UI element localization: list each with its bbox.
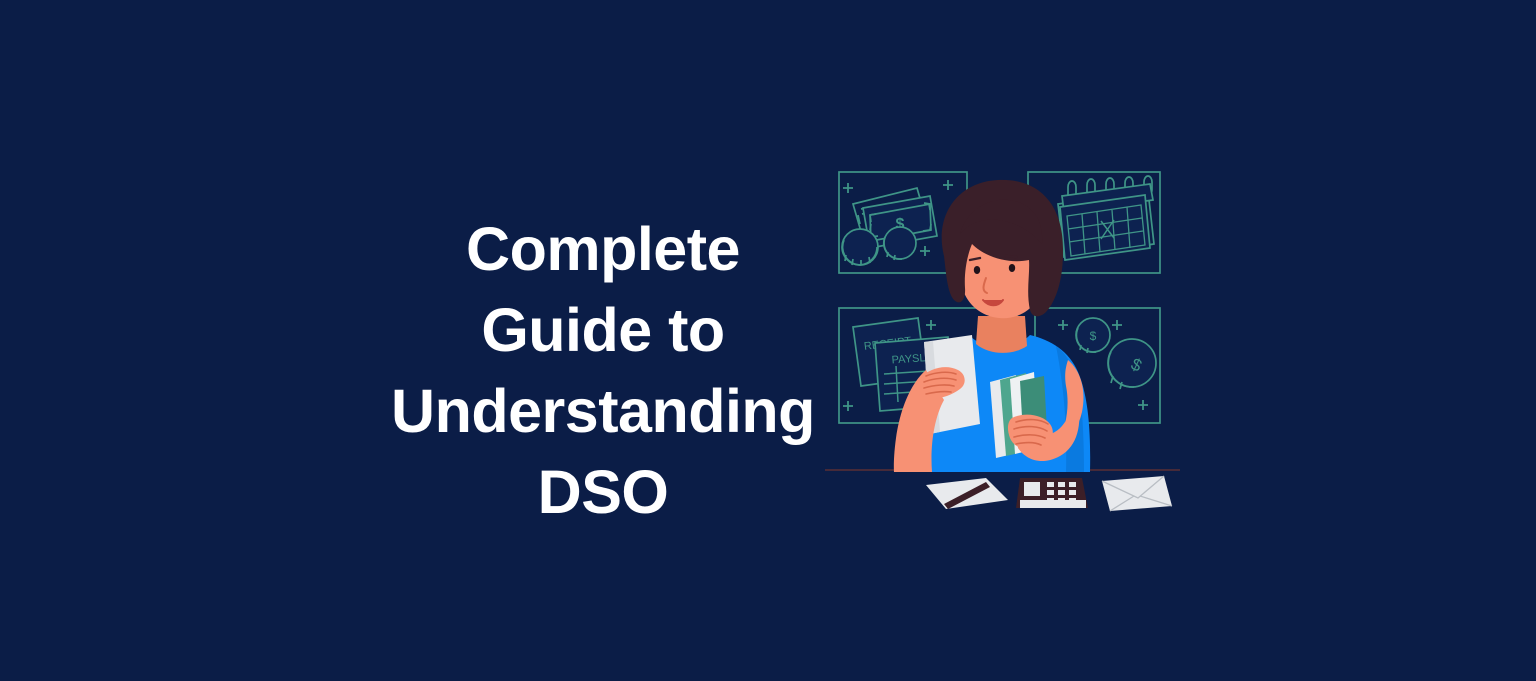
- calculator-display: [1024, 482, 1040, 496]
- calculator-item: [1016, 478, 1088, 508]
- hero-illustration: $: [820, 160, 1190, 520]
- coin-icon-right: [884, 227, 916, 260]
- calendar-icon: [1058, 176, 1154, 260]
- page-title: Complete Guide to Understanding DSO: [330, 209, 876, 533]
- hero-banner: Complete Guide to Understanding DSO: [0, 0, 1536, 681]
- coin-icon-left: [842, 229, 878, 265]
- envelope-icon: [1102, 476, 1172, 511]
- coins-icon: $ $: [1076, 318, 1156, 389]
- svg-text:$: $: [1090, 329, 1097, 343]
- neck: [976, 316, 1027, 353]
- paper-and-pen-item: [926, 478, 1008, 509]
- desk-items: [926, 476, 1172, 511]
- calculator-buttons: [1047, 482, 1076, 503]
- envelope-item: [1102, 476, 1172, 511]
- calculator-base: [1020, 500, 1086, 508]
